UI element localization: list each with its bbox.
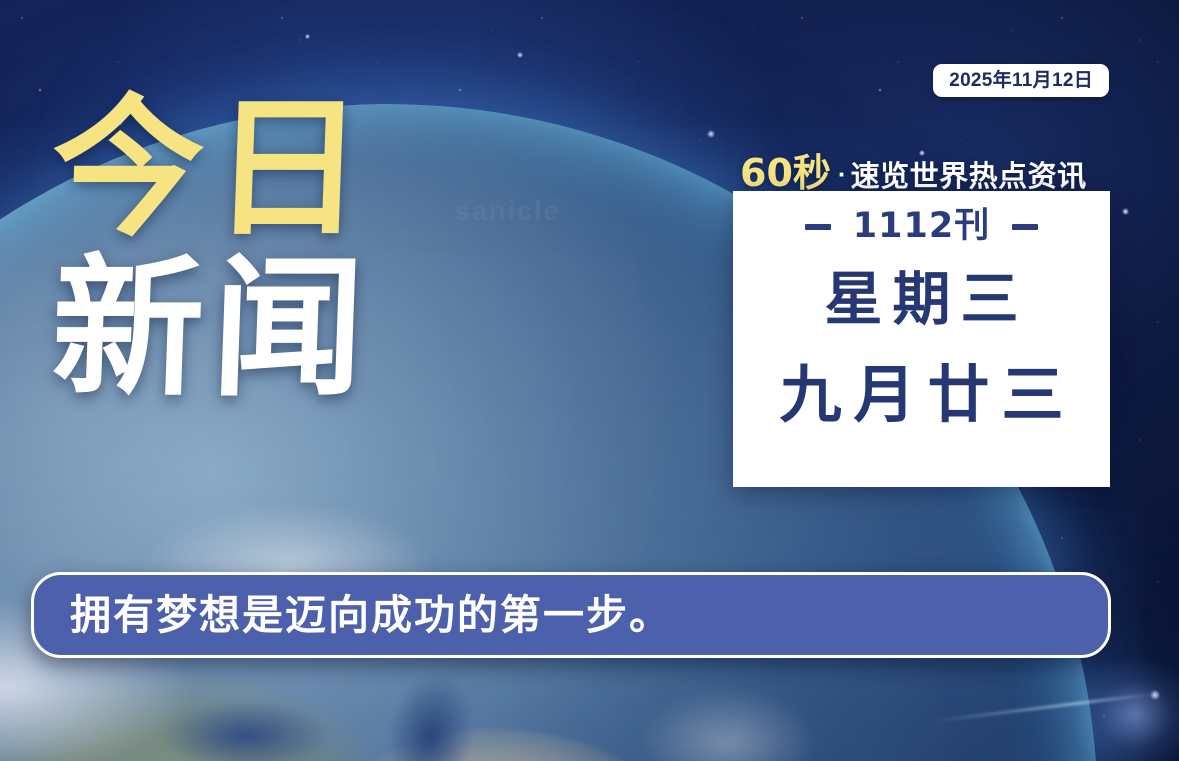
tagline-text: 速览世界热点资讯	[851, 153, 1087, 195]
tagline: 60秒 · 速览世界热点资讯	[740, 142, 1112, 197]
lunar-date-label: 九月廿三	[767, 364, 1075, 426]
dash-right-icon	[1012, 224, 1038, 230]
issue-number: 1112刊	[853, 209, 990, 244]
page-title: 今日 新闻	[52, 96, 472, 402]
tagline-separator: ·	[838, 159, 847, 190]
star-icon	[517, 52, 523, 58]
weekday-label: 星期三	[814, 270, 1028, 328]
issue-row: 1112刊	[805, 209, 1038, 244]
news-poster: sanicle 2025年11月12日 今日 新闻 60秒 · 速览世界热点资讯…	[0, 0, 1179, 761]
quote-bar: 拥有梦想是迈向成功的第一步。	[31, 572, 1111, 658]
date-badge-label: 2025年11月12日	[949, 71, 1093, 90]
date-badge: 2025年11月12日	[933, 64, 1109, 97]
star-icon	[305, 34, 310, 39]
title-line-today: 今日	[49, 96, 474, 242]
title-line-news: 新闻	[49, 256, 474, 402]
star-icon	[1122, 208, 1129, 215]
dash-left-icon	[805, 224, 831, 230]
quote-text: 拥有梦想是迈向成功的第一步。	[70, 595, 672, 636]
tagline-highlight: 60秒	[740, 142, 831, 197]
issue-info-card: 1112刊 星期三 九月廿三	[733, 191, 1110, 487]
